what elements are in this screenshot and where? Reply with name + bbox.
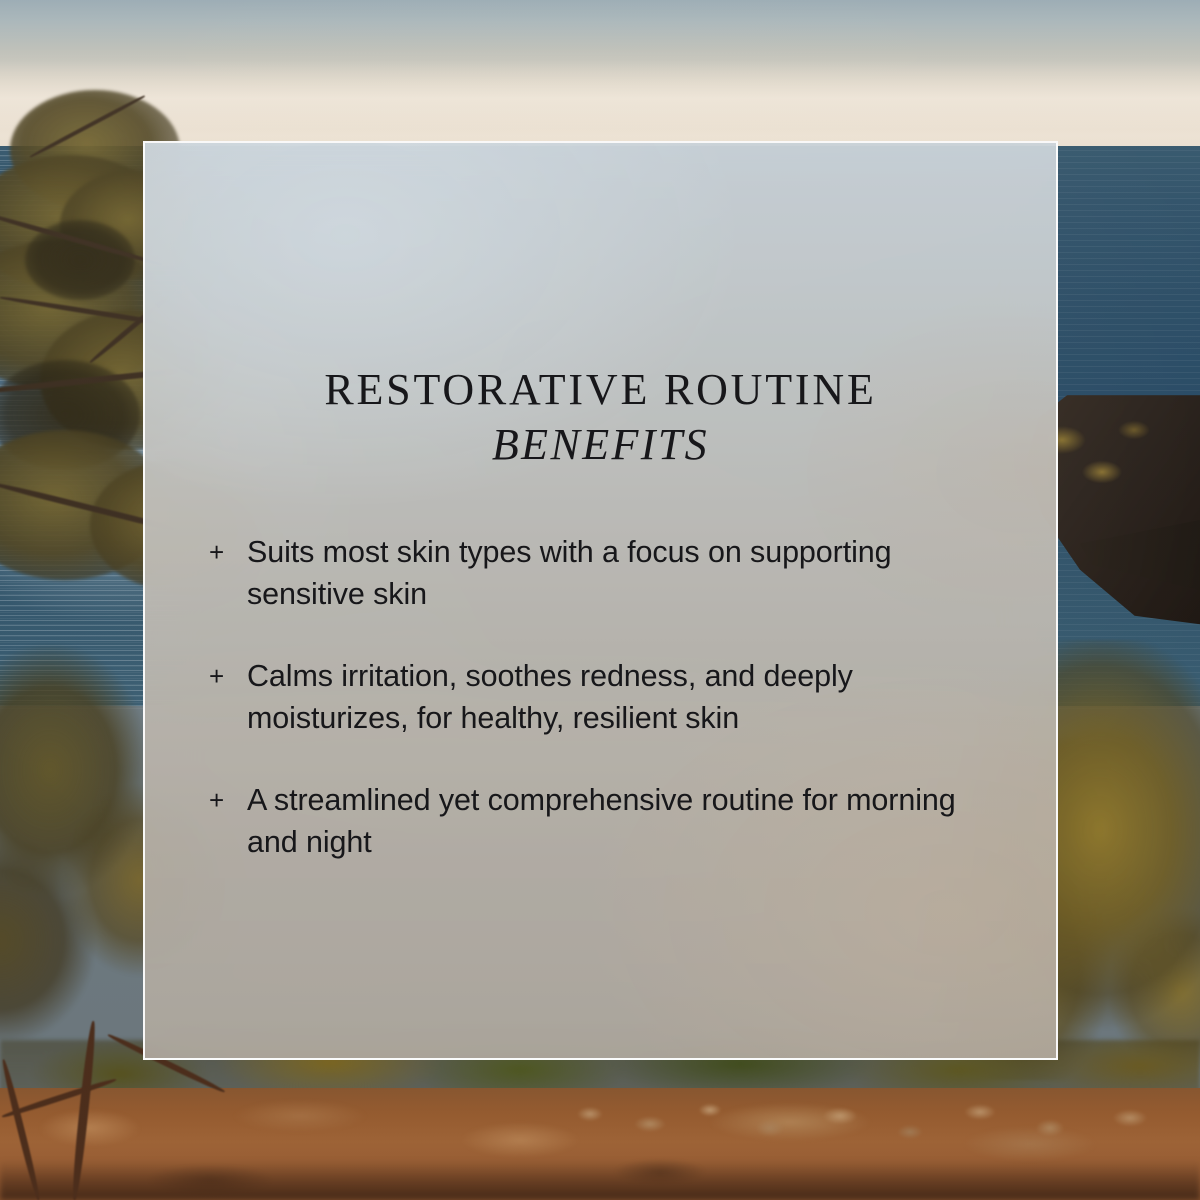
headland-shrubs bbox=[1040, 410, 1160, 510]
page-title: RESTORATIVE ROUTINE BENEFITS bbox=[145, 365, 1056, 472]
heading-primary: RESTORATIVE ROUTINE bbox=[145, 365, 1056, 414]
list-item: + Calms irritation, soothes redness, and… bbox=[207, 655, 997, 739]
heading-secondary: BENEFITS bbox=[145, 418, 1056, 472]
frosted-glass-card: RESTORATIVE ROUTINE BENEFITS + Suits mos… bbox=[143, 141, 1058, 1060]
benefit-text: Calms irritation, soothes redness, and d… bbox=[247, 655, 997, 739]
benefit-text: A streamlined yet comprehensive routine … bbox=[247, 779, 997, 863]
list-item: + Suits most skin types with a focus on … bbox=[207, 531, 997, 615]
marketing-slide: RESTORATIVE ROUTINE BENEFITS + Suits mos… bbox=[0, 0, 1200, 1200]
benefit-text: Suits most skin types with a focus on su… bbox=[247, 531, 997, 615]
plus-icon: + bbox=[207, 655, 247, 697]
plus-icon: + bbox=[207, 779, 247, 821]
card-content: RESTORATIVE ROUTINE BENEFITS + Suits mos… bbox=[145, 143, 1056, 1058]
list-item: + A streamlined yet comprehensive routin… bbox=[207, 779, 997, 863]
foreground-shadow bbox=[0, 1160, 1200, 1200]
benefits-list: + Suits most skin types with a focus on … bbox=[207, 531, 997, 863]
plus-icon: + bbox=[207, 531, 247, 573]
stone-wall bbox=[560, 1094, 1200, 1152]
